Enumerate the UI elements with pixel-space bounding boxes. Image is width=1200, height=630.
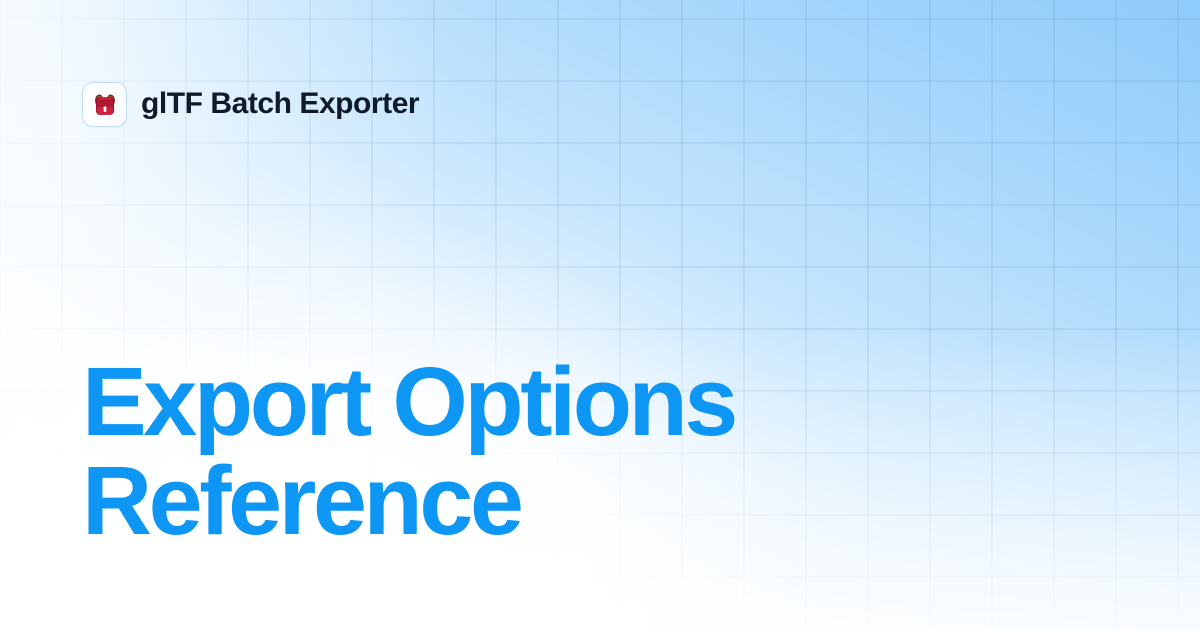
- og-card: glTF Batch Exporter Export Options Refer…: [0, 0, 1200, 630]
- brand-icon-badge: [82, 82, 127, 127]
- brand-lockup: glTF Batch Exporter: [82, 81, 419, 127]
- card-content: glTF Batch Exporter Export Options Refer…: [0, 0, 1200, 630]
- page-title: Export Options Reference: [82, 352, 735, 550]
- backpack-emoji-icon: [90, 89, 120, 119]
- brand-name: glTF Batch Exporter: [141, 89, 419, 119]
